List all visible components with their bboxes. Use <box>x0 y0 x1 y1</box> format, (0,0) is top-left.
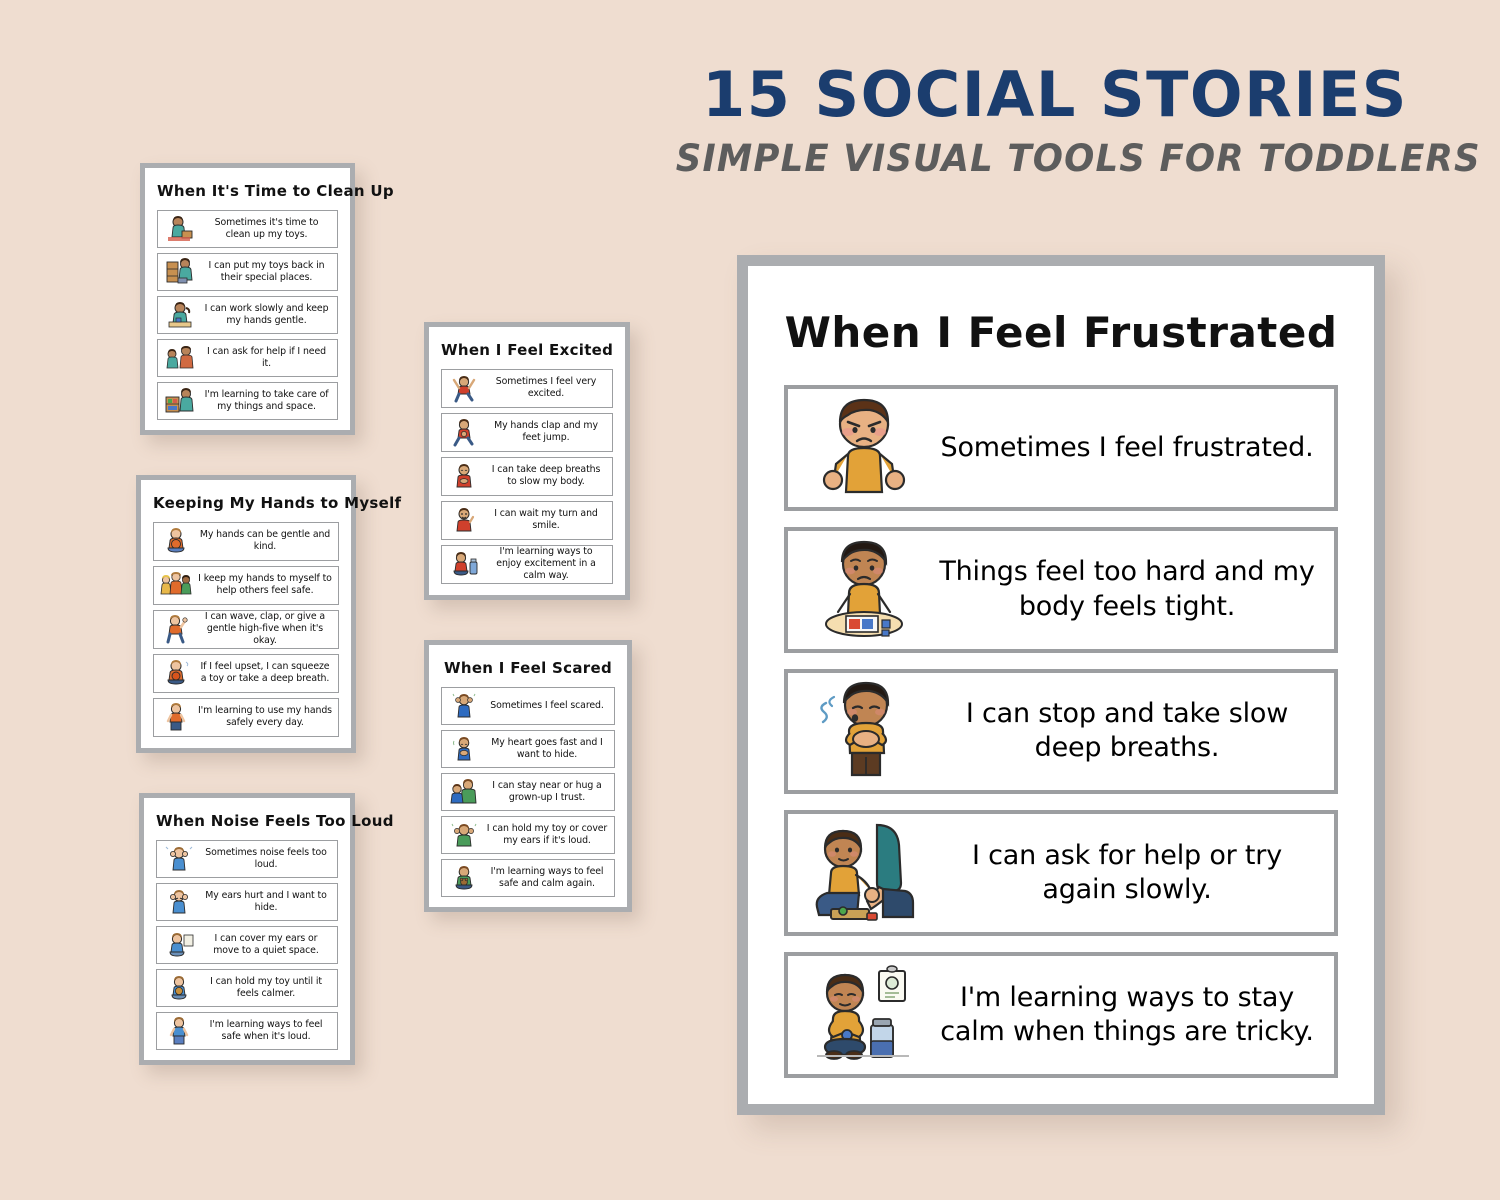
child-hugging-adult-icon <box>445 776 483 808</box>
boy-hugging-teddy-icon <box>445 862 483 894</box>
main-story-row-text: I can ask for help or try again slowly. <box>930 839 1324 908</box>
boy-asking-adult-help-icon <box>798 818 930 928</box>
boy-quiet-corner-icon <box>160 929 198 961</box>
small-story-row-text: I can ask for help if I need it. <box>199 346 334 370</box>
small-card-feel-scared[interactable]: When I Feel Scared Sometimes I feel scar… <box>424 640 632 912</box>
angry-boy-fists-icon <box>798 393 930 503</box>
boy-clapping-running-icon <box>445 416 483 449</box>
main-story-row-text: Sometimes I feel frustrated. <box>930 431 1324 466</box>
main-social-story-card[interactable]: When I Feel Frustrated <box>737 255 1385 1115</box>
boy-jumping-arms-up-icon <box>445 372 483 405</box>
girl-picking-toys-icon <box>161 213 199 245</box>
small-card-title: When I Feel Scared <box>441 659 615 677</box>
main-story-row[interactable]: Sometimes I feel frustrated. <box>784 385 1338 511</box>
small-story-row[interactable]: I'm learning to take care of my things a… <box>157 382 338 420</box>
small-card-title: Keeping My Hands to Myself <box>153 494 339 512</box>
small-story-row-text: I can hold my toy until it feels calmer. <box>198 976 334 1000</box>
small-story-row-text: My heart goes fast and I want to hide. <box>483 737 611 761</box>
small-card-title: When It's Time to Clean Up <box>157 182 338 200</box>
small-story-row[interactable]: I can cover my ears or move to a quiet s… <box>156 926 338 964</box>
small-story-row-text: I can hold my toy or cover my ears if it… <box>483 823 611 847</box>
girl-tidy-shelf-icon <box>161 385 199 417</box>
small-story-row-text: I'm learning to use my hands safely ever… <box>195 705 335 729</box>
small-story-row[interactable]: My ears hurt and I want to hide. <box>156 883 338 921</box>
main-story-row[interactable]: I'm learning ways to stay calm when thin… <box>784 952 1338 1078</box>
small-card-hands-to-myself[interactable]: Keeping My Hands to Myself My hands can … <box>136 475 356 753</box>
small-story-row[interactable]: I can stay near or hug a grown-up I trus… <box>441 773 615 811</box>
child-asking-help-icon <box>161 342 199 374</box>
small-story-row[interactable]: I can take deep breaths to slow my body. <box>441 457 613 496</box>
boy-standing-relaxed-icon <box>160 1015 198 1047</box>
small-story-row-text: I'm learning ways to enjoy excitement in… <box>483 546 609 583</box>
small-story-row[interactable]: I'm learning ways to feel safe and calm … <box>441 859 615 897</box>
small-story-row[interactable]: My hands clap and my feet jump. <box>441 413 613 452</box>
small-card-row-list: Sometimes noise feels too loud. My ears … <box>156 840 338 1050</box>
small-story-row[interactable]: I can hold my toy until it feels calmer. <box>156 969 338 1007</box>
boy-holding-toy-icon <box>160 972 198 1004</box>
page-subtitle: SIMPLE VISUAL TOOLS FOR TODDLERS <box>676 137 1434 180</box>
small-story-row[interactable]: I keep my hands to myself to help others… <box>153 566 339 605</box>
small-story-row-text: My hands clap and my feet jump. <box>483 420 609 444</box>
small-story-row-text: Sometimes it's time to clean up my toys. <box>199 217 334 241</box>
boy-deep-breathing-icon <box>798 677 930 787</box>
small-story-row-text: I can put my toys back in their special … <box>199 260 334 284</box>
small-story-row-text: I can take deep breaths to slow my body. <box>483 464 609 488</box>
small-story-row-text: I can wait my turn and smile. <box>483 508 609 532</box>
small-card-noise-too-loud[interactable]: When Noise Feels Too Loud Sometimes nois… <box>139 793 355 1065</box>
small-story-row[interactable]: Sometimes it's time to clean up my toys. <box>157 210 338 248</box>
small-card-clean-up[interactable]: When It's Time to Clean Up Sometimes it'… <box>140 163 355 435</box>
boy-scared-hands-up-icon <box>445 690 483 722</box>
girl-sorting-blocks-icon <box>161 299 199 331</box>
small-card-title: When Noise Feels Too Loud <box>156 812 338 830</box>
main-card-title: When I Feel Frustrated <box>784 308 1338 357</box>
small-story-row-text: I'm learning ways to feel safe and calm … <box>483 866 611 890</box>
small-story-row-text: Sometimes I feel very excited. <box>483 376 609 400</box>
small-card-row-list: Sometimes I feel scared. My heart goes f… <box>441 687 615 897</box>
main-story-row-text: I'm learning ways to stay calm when thin… <box>930 981 1324 1050</box>
small-story-row[interactable]: I'm learning to use my hands safely ever… <box>153 698 339 737</box>
boy-heart-racing-icon <box>445 733 483 765</box>
small-story-row-text: I can wave, clap, or give a gentle high-… <box>195 611 335 648</box>
small-story-row-text: I can cover my ears or move to a quiet s… <box>198 933 334 957</box>
main-story-row-text: I can stop and take slow deep breaths. <box>930 697 1324 766</box>
main-story-row-text: Things feel too hard and my body feels t… <box>930 555 1324 624</box>
boy-breathing-calm-icon <box>445 460 483 493</box>
small-story-row[interactable]: I'm learning ways to enjoy excitement in… <box>441 545 613 584</box>
girl-shelf-basket-icon <box>161 256 199 288</box>
small-story-row-text: I'm learning ways to feel safe when it's… <box>198 1019 334 1043</box>
boy-squeezing-toy-icon <box>157 657 195 690</box>
small-card-title: When I Feel Excited <box>441 341 613 359</box>
small-story-row[interactable]: I'm learning ways to feel safe when it's… <box>156 1012 338 1050</box>
small-story-row[interactable]: My hands can be gentle and kind. <box>153 522 339 561</box>
small-card-feel-excited[interactable]: When I Feel Excited Sometimes I feel ver… <box>424 322 630 600</box>
small-story-row-text: I keep my hands to myself to help others… <box>195 573 335 597</box>
boy-waiting-smiling-icon <box>445 504 483 537</box>
small-story-row-text: I can stay near or hug a grown-up I trus… <box>483 780 611 804</box>
small-card-row-list: Sometimes I feel very excited. My hands … <box>441 369 613 584</box>
boy-puzzle-table-icon <box>798 535 930 645</box>
main-story-row[interactable]: Things feel too hard and my body feels t… <box>784 527 1338 653</box>
small-story-row[interactable]: I can ask for help if I need it. <box>157 339 338 377</box>
small-story-row-text: If I feel upset, I can squeeze a toy or … <box>195 661 335 685</box>
small-story-row-text: Sometimes noise feels too loud. <box>198 847 334 871</box>
main-story-row[interactable]: I can stop and take slow deep breaths. <box>784 669 1338 795</box>
boy-waving-walking-icon <box>157 613 195 646</box>
boy-sitting-bottle-icon <box>445 548 483 581</box>
small-story-row[interactable]: Sometimes I feel scared. <box>441 687 615 725</box>
small-story-row[interactable]: I can wait my turn and smile. <box>441 501 613 540</box>
small-story-row-text: I can work slowly and keep my hands gent… <box>199 303 334 327</box>
boy-calm-jar-sitting-icon <box>798 960 930 1070</box>
boy-covering-ears-icon <box>160 843 198 875</box>
small-story-row[interactable]: Sometimes I feel very excited. <box>441 369 613 408</box>
small-story-row-text: My hands can be gentle and kind. <box>195 529 335 553</box>
small-story-row[interactable]: I can put my toys back in their special … <box>157 253 338 291</box>
boy-standing-calm-icon <box>157 701 195 734</box>
main-card-row-list: Sometimes I feel frustrated. <box>784 385 1338 1078</box>
small-story-row[interactable]: If I feel upset, I can squeeze a toy or … <box>153 654 339 693</box>
small-story-row[interactable]: My heart goes fast and I want to hide. <box>441 730 615 768</box>
boy-ears-hurt-icon <box>160 886 198 918</box>
small-story-row[interactable]: I can hold my toy or cover my ears if it… <box>441 816 615 854</box>
small-card-row-list: My hands can be gentle and kind. <box>153 522 339 737</box>
small-story-row-text: My ears hurt and I want to hide. <box>198 890 334 914</box>
small-story-row[interactable]: I can wave, clap, or give a gentle high-… <box>153 610 339 649</box>
page-header: 15 SOCIAL STORIES SIMPLE VISUAL TOOLS FO… <box>660 62 1450 180</box>
small-story-row-text: I'm learning to take care of my things a… <box>199 389 334 413</box>
small-story-row[interactable]: I can work slowly and keep my hands gent… <box>157 296 338 334</box>
group-of-children-icon <box>157 569 195 602</box>
main-story-row[interactable]: I can ask for help or try again slowly. <box>784 810 1338 936</box>
small-story-row-text: Sometimes I feel scared. <box>483 700 611 712</box>
page-title: 15 SOCIAL STORIES <box>660 62 1450 127</box>
boy-sitting-ball-icon <box>157 525 195 558</box>
small-story-row[interactable]: Sometimes noise feels too loud. <box>156 840 338 878</box>
small-card-row-list: Sometimes it's time to clean up my toys.… <box>157 210 338 420</box>
child-covering-ears-icon <box>445 819 483 851</box>
